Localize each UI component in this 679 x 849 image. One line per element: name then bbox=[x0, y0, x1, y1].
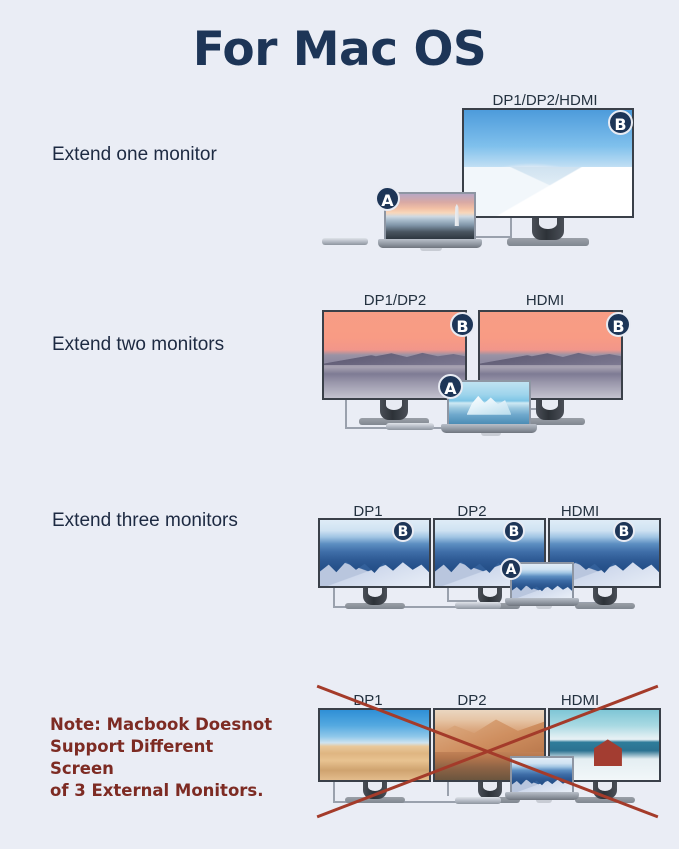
monitor-neck-cutout bbox=[483, 588, 497, 597]
monitor-neck bbox=[363, 782, 387, 799]
port-label-dp2-4: DP2 bbox=[422, 692, 522, 709]
note-line-1: Note: Macbook Doesn bbox=[50, 715, 253, 734]
laptop-base bbox=[441, 424, 537, 433]
badge-b-monitor-3c: B bbox=[613, 520, 635, 542]
laptop-base bbox=[378, 239, 482, 248]
external-monitor-3a bbox=[318, 518, 431, 623]
monitor-neck bbox=[363, 588, 387, 605]
monitor-neck bbox=[593, 588, 617, 605]
infographic-page: For Mac OS Extend one monitor DP1/DP2/HD… bbox=[0, 0, 679, 849]
monitor-neck-cutout bbox=[483, 782, 497, 791]
section-extend-three: Extend three monitors DP1 DP2 HDMI B bbox=[0, 490, 679, 630]
monitor-neck-cutout bbox=[386, 400, 402, 410]
note-bold-ot: ot bbox=[253, 715, 272, 734]
laptop-screen-bluemtn-4 bbox=[512, 758, 572, 792]
badge-b-monitor-2b: B bbox=[606, 312, 631, 337]
port-label-dp1-dp2: DP1/DP2 bbox=[330, 292, 460, 309]
laptop-trackpad-notch bbox=[536, 800, 552, 803]
badge-b-monitor-1: B bbox=[608, 110, 633, 135]
port-label-dp1-dp2-hdmi: DP1/DP2/HDMI bbox=[455, 92, 635, 109]
badge-a-laptop-3: A bbox=[500, 558, 522, 580]
monitor-neck-cutout bbox=[598, 782, 612, 791]
badge-a-laptop-1: A bbox=[375, 186, 400, 211]
note-unsupported: Note: Macbook Doesnot Support Different … bbox=[50, 714, 280, 802]
laptop-trackpad-notch bbox=[536, 606, 552, 609]
external-monitor-4a bbox=[318, 708, 431, 816]
laptop-base bbox=[505, 598, 579, 606]
port-label-hdmi-4: HDMI bbox=[530, 692, 630, 709]
badge-a-laptop-2: A bbox=[438, 374, 463, 399]
port-label-dp1-4: DP1 bbox=[318, 692, 418, 709]
monitor-screen-desert bbox=[320, 710, 429, 780]
port-label-hdmi-2: HDMI bbox=[480, 292, 610, 309]
usb-hub-device bbox=[322, 238, 368, 245]
badge-b-monitor-3b: B bbox=[503, 520, 525, 542]
monitor-neck-cutout bbox=[539, 218, 557, 229]
section-label-extend-two: Extend two monitors bbox=[52, 334, 224, 356]
laptop-4 bbox=[510, 756, 574, 802]
usb-hub-device-3 bbox=[455, 602, 501, 609]
monitor-neck-cutout bbox=[598, 588, 612, 597]
monitor-neck bbox=[593, 782, 617, 799]
laptop-trackpad-notch bbox=[420, 248, 442, 251]
note-line-3: of 3 External Monitors. bbox=[50, 781, 264, 800]
note-line-2: Support Different Screen bbox=[50, 737, 213, 778]
badge-b-monitor-2a: B bbox=[450, 312, 475, 337]
monitor-neck bbox=[380, 400, 408, 420]
monitor-neck-cutout bbox=[542, 400, 558, 410]
monitor-neck-cutout bbox=[368, 782, 382, 791]
usb-hub-device-4 bbox=[455, 797, 501, 804]
monitor-neck bbox=[532, 218, 564, 240]
badge-b-monitor-3a: B bbox=[392, 520, 414, 542]
monitor-neck bbox=[536, 400, 564, 420]
monitor-neck-cutout bbox=[368, 588, 382, 597]
section-extend-two: Extend two monitors DP1/DP2 HDMI B bbox=[0, 280, 679, 450]
section-unsupported: Note: Macbook Doesnot Support Different … bbox=[0, 680, 679, 840]
monitor-bezel bbox=[318, 708, 431, 782]
section-extend-one: Extend one monitor DP1/DP2/HDMI B bbox=[0, 0, 679, 270]
monitor-screen-snow-mountain bbox=[464, 110, 632, 216]
monitor-bezel bbox=[318, 518, 431, 588]
external-monitor-2a bbox=[322, 310, 467, 430]
usb-hub-device-2 bbox=[386, 423, 434, 430]
laptop-trackpad-notch bbox=[481, 433, 501, 436]
section-label-extend-one: Extend one monitor bbox=[52, 144, 217, 166]
laptop-lid bbox=[510, 756, 574, 792]
laptop-base bbox=[505, 792, 579, 800]
section-label-extend-three: Extend three monitors bbox=[52, 510, 238, 532]
